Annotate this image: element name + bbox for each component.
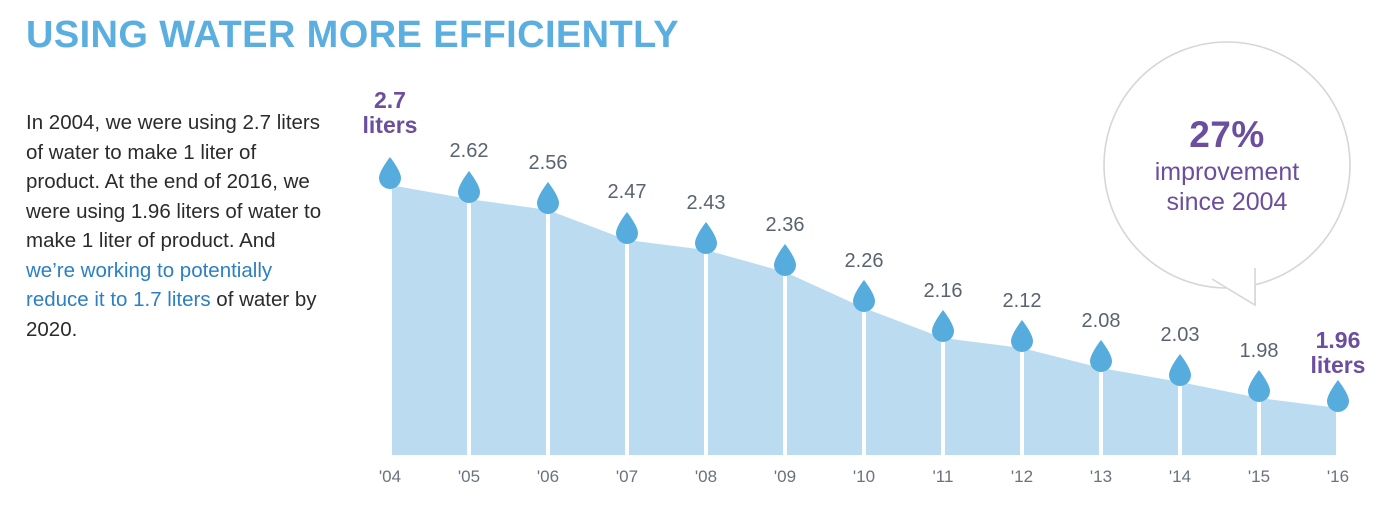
callout-line-1: improvement [1155,158,1300,188]
value-label-2010: 2.26 [819,250,909,273]
x-axis-label-2004: '04 [360,467,420,487]
value-label-2009: 2.36 [740,214,830,237]
value-label-2006: 2.56 [503,152,593,175]
callout-line-2: since 2004 [1167,188,1288,218]
value-label-2004: 2.7 liters [345,88,435,138]
droplet-marker-2010[interactable] [853,280,875,312]
value-label-2005: 2.62 [424,140,514,163]
droplet-marker-2014[interactable] [1169,354,1191,386]
droplet-marker-2015[interactable] [1248,370,1270,402]
value-label-2014: 2.03 [1135,324,1225,347]
x-axis-label-2007: '07 [597,467,657,487]
value-label-2012: 2.12 [977,290,1067,313]
droplet-marker-2007[interactable] [616,212,638,244]
x-axis-label-2005: '05 [439,467,499,487]
droplet-marker-2009[interactable] [774,244,796,276]
value-label-2015: 1.98 [1214,340,1304,363]
x-axis-label-2006: '06 [518,467,578,487]
x-axis-label-2012: '12 [992,467,1052,487]
x-axis-label-2014: '14 [1150,467,1210,487]
value-label-2013: 2.08 [1056,310,1146,333]
value-label-2011: 2.16 [898,280,988,303]
droplet-marker-2013[interactable] [1090,340,1112,372]
value-label-2007: 2.47 [582,181,672,204]
value-label-2016: 1.96 liters [1293,328,1383,378]
droplet-marker-2012[interactable] [1011,320,1033,352]
droplet-marker-2005[interactable] [458,171,480,203]
droplet-marker-2011[interactable] [932,310,954,342]
x-axis-label-2009: '09 [755,467,815,487]
x-axis-label-2008: '08 [676,467,736,487]
callout-text-group: 27% improvement since 2004 [1104,42,1350,288]
callout-percent: 27% [1189,113,1265,157]
x-axis-label-2016: '16 [1308,467,1368,487]
value-label-2008: 2.43 [661,192,751,215]
droplet-marker-2008[interactable] [695,222,717,254]
improvement-callout: 27% improvement since 2004 [1104,42,1350,288]
x-axis-label-2013: '13 [1071,467,1131,487]
droplet-marker-2004[interactable] [379,157,401,189]
x-axis-label-2011: '11 [913,467,973,487]
droplet-marker-2006[interactable] [537,182,559,214]
x-axis-label-2010: '10 [834,467,894,487]
x-axis-label-2015: '15 [1229,467,1289,487]
droplet-marker-2016[interactable] [1327,380,1349,412]
